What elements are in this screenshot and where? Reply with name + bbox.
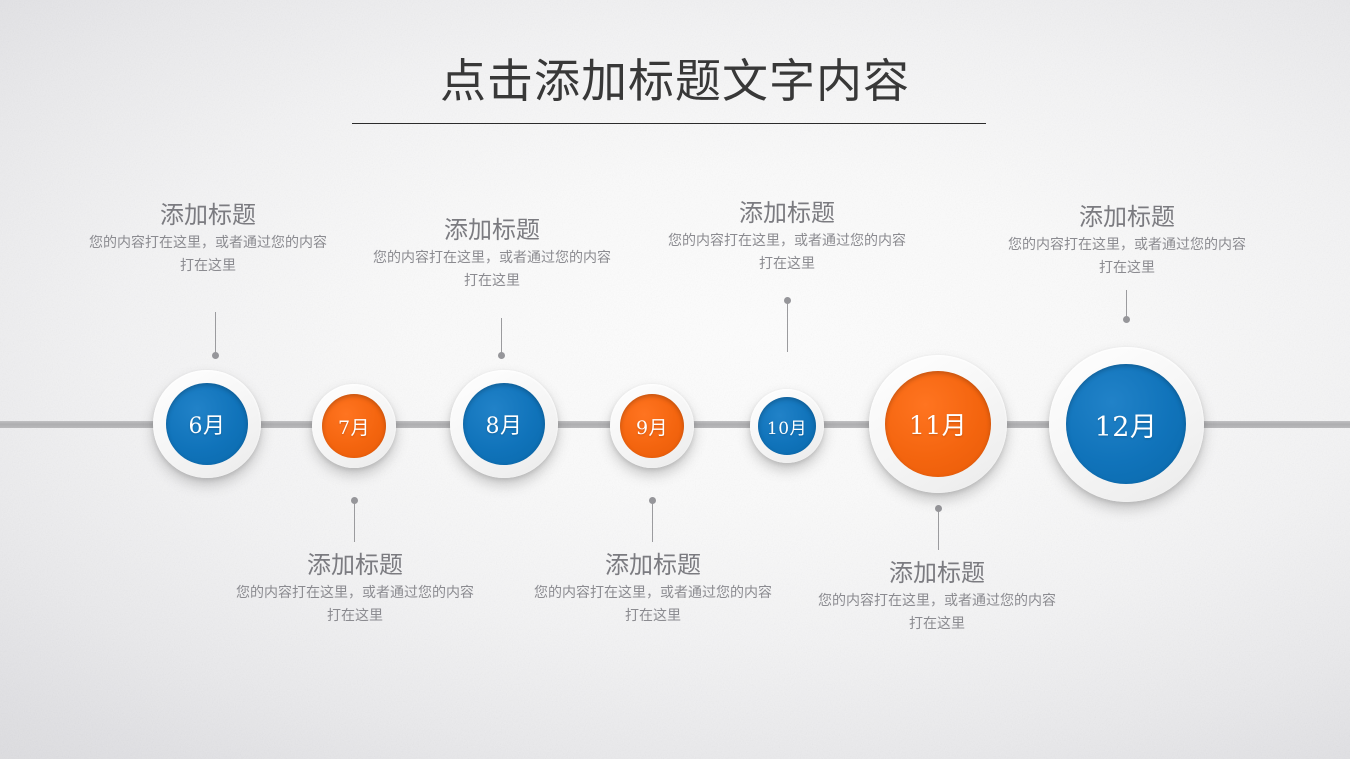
callout-title: 添加标题 (235, 548, 475, 582)
callout-10[interactable]: 添加标题您的内容打在这里，或者通过您的内容打在这里 (668, 196, 906, 276)
timeline-node-8月[interactable]: 8月 (450, 370, 558, 478)
timeline-node-disc: 6月 (166, 383, 248, 465)
callout-leader-dot (351, 497, 358, 504)
timeline-node-disc: 11月 (885, 371, 991, 477)
callout-leader-dot (1123, 316, 1130, 323)
title-block: 点击添加标题文字内容 (0, 52, 1350, 110)
callout-8[interactable]: 添加标题您的内容打在这里，或者通过您的内容打在这里 (372, 213, 612, 293)
callout-body: 您的内容打在这里，或者通过您的内容打在这里 (668, 230, 906, 276)
timeline-node-disc: 9月 (620, 394, 684, 458)
timeline-node-7月[interactable]: 7月 (312, 384, 396, 468)
callout-leader-dot (649, 497, 656, 504)
timeline-node-6月[interactable]: 6月 (153, 370, 261, 478)
timeline-node-label: 9月 (636, 413, 668, 440)
title-underline (352, 123, 986, 124)
callout-leader-line (652, 500, 653, 542)
callout-12[interactable]: 添加标题您的内容打在这里，或者通过您的内容打在这里 (1008, 200, 1246, 280)
callout-body: 您的内容打在这里，或者通过您的内容打在这里 (372, 247, 612, 293)
timeline-node-disc: 7月 (322, 394, 386, 458)
timeline-node-10月[interactable]: 10月 (750, 389, 824, 463)
timeline-node-disc: 12月 (1066, 364, 1186, 484)
callout-leader-line (938, 510, 939, 550)
callout-leader-line (787, 300, 788, 352)
callout-9[interactable]: 添加标题您的内容打在这里，或者通过您的内容打在这里 (533, 548, 773, 628)
timeline-node-12月[interactable]: 12月 (1049, 347, 1204, 502)
callout-leader-dot (784, 297, 791, 304)
timeline-node-label: 12月 (1095, 405, 1158, 444)
callout-body: 您的内容打在这里，或者通过您的内容打在这里 (88, 232, 328, 278)
callout-title: 添加标题 (533, 548, 773, 582)
callout-body: 您的内容打在这里，或者通过您的内容打在这里 (533, 582, 773, 628)
callout-body: 您的内容打在这里，或者通过您的内容打在这里 (818, 590, 1056, 636)
timeline-node-label: 8月 (486, 408, 523, 440)
callout-title: 添加标题 (668, 196, 906, 230)
callout-leader-dot (935, 505, 942, 512)
callout-title: 添加标题 (372, 213, 612, 247)
timeline-node-11月[interactable]: 11月 (869, 355, 1007, 493)
callout-7[interactable]: 添加标题您的内容打在这里，或者通过您的内容打在这里 (235, 548, 475, 628)
callout-6[interactable]: 添加标题您的内容打在这里，或者通过您的内容打在这里 (88, 198, 328, 278)
callout-title: 添加标题 (88, 198, 328, 232)
timeline-node-label: 11月 (909, 406, 967, 442)
callout-body: 您的内容打在这里，或者通过您的内容打在这里 (1008, 234, 1246, 280)
callout-leader-line (354, 500, 355, 542)
timeline-node-9月[interactable]: 9月 (610, 384, 694, 468)
callout-11[interactable]: 添加标题您的内容打在这里，或者通过您的内容打在这里 (818, 556, 1056, 636)
timeline-node-label: 6月 (189, 408, 226, 440)
callout-leader-line (215, 312, 216, 356)
timeline-node-disc: 8月 (463, 383, 545, 465)
timeline-node-label: 7月 (338, 413, 370, 440)
callout-title: 添加标题 (818, 556, 1056, 590)
timeline-node-label: 10月 (767, 414, 807, 439)
page-title: 点击添加标题文字内容 (0, 52, 1350, 110)
callout-leader-line (501, 318, 502, 356)
timeline-node-disc: 10月 (758, 397, 816, 455)
callout-leader-dot (212, 352, 219, 359)
callout-title: 添加标题 (1008, 200, 1246, 234)
slide-canvas: 点击添加标题文字内容 添加标题您的内容打在这里，或者通过您的内容打在这里添加标题… (0, 0, 1350, 759)
callout-leader-dot (498, 352, 505, 359)
callout-body: 您的内容打在这里，或者通过您的内容打在这里 (235, 582, 475, 628)
